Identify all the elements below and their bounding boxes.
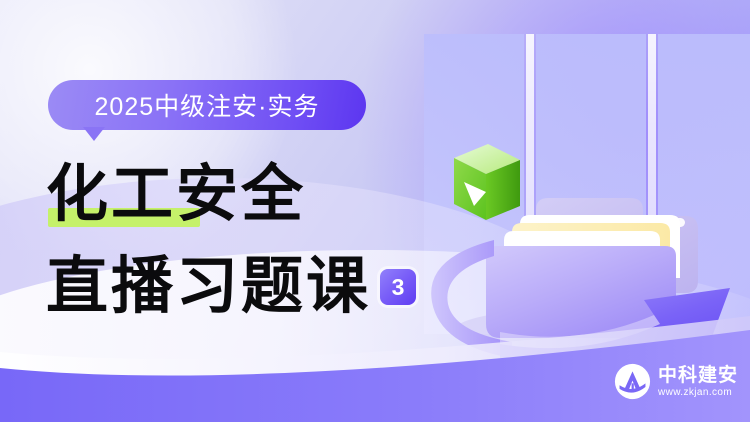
folder-tab-strip	[653, 218, 685, 227]
arrow-highlight	[500, 315, 660, 348]
play-triangle-icon	[464, 182, 486, 206]
arrow-head	[500, 288, 730, 360]
folder-back	[536, 198, 698, 293]
background-panel-3	[658, 34, 750, 334]
course-illustration	[408, 120, 750, 360]
headline-line-1: 化工安全	[46, 158, 466, 238]
background-panel-divider-2	[648, 34, 656, 334]
course-tag-pill: 2025中级注安·实务	[48, 80, 366, 130]
headline-line-2-text: 直播习题课	[46, 250, 371, 324]
course-tag-label: 2025中级注安·实务	[95, 87, 320, 123]
illustration-shadow	[452, 308, 704, 356]
course-tag: 2025中级注安·实务	[48, 80, 368, 140]
paper-sheet-yellow	[512, 223, 670, 284]
arrow-ring-left	[431, 240, 512, 358]
paper-sheet-white-2	[504, 231, 660, 290]
headline-line-1-text: 化工安全	[46, 158, 466, 232]
background-panel-2	[536, 34, 646, 334]
brand-logo[interactable]: 中科建安 www.zkjan.com	[614, 363, 738, 400]
speech-bubble-tail-icon	[83, 127, 105, 141]
course-banner: 2025中级注安·实务 化工安全 直播习题课 3 中科建安 www.zkjan.…	[0, 0, 750, 422]
brand-name: 中科建安	[658, 365, 738, 386]
background-panels	[424, 34, 750, 334]
headline-line-2: 直播习题课 3	[46, 250, 416, 324]
zkjan-circle-logo-icon	[614, 363, 651, 400]
cube-right-face	[486, 160, 520, 220]
background-panel-divider-1	[526, 34, 534, 334]
folder-front	[486, 246, 676, 338]
brand-url: www.zkjan.com	[658, 386, 738, 399]
paper-sheet-white	[520, 215, 680, 278]
episode-number-badge: 3	[380, 269, 416, 305]
brand-logo-text: 中科建安 www.zkjan.com	[658, 365, 738, 399]
